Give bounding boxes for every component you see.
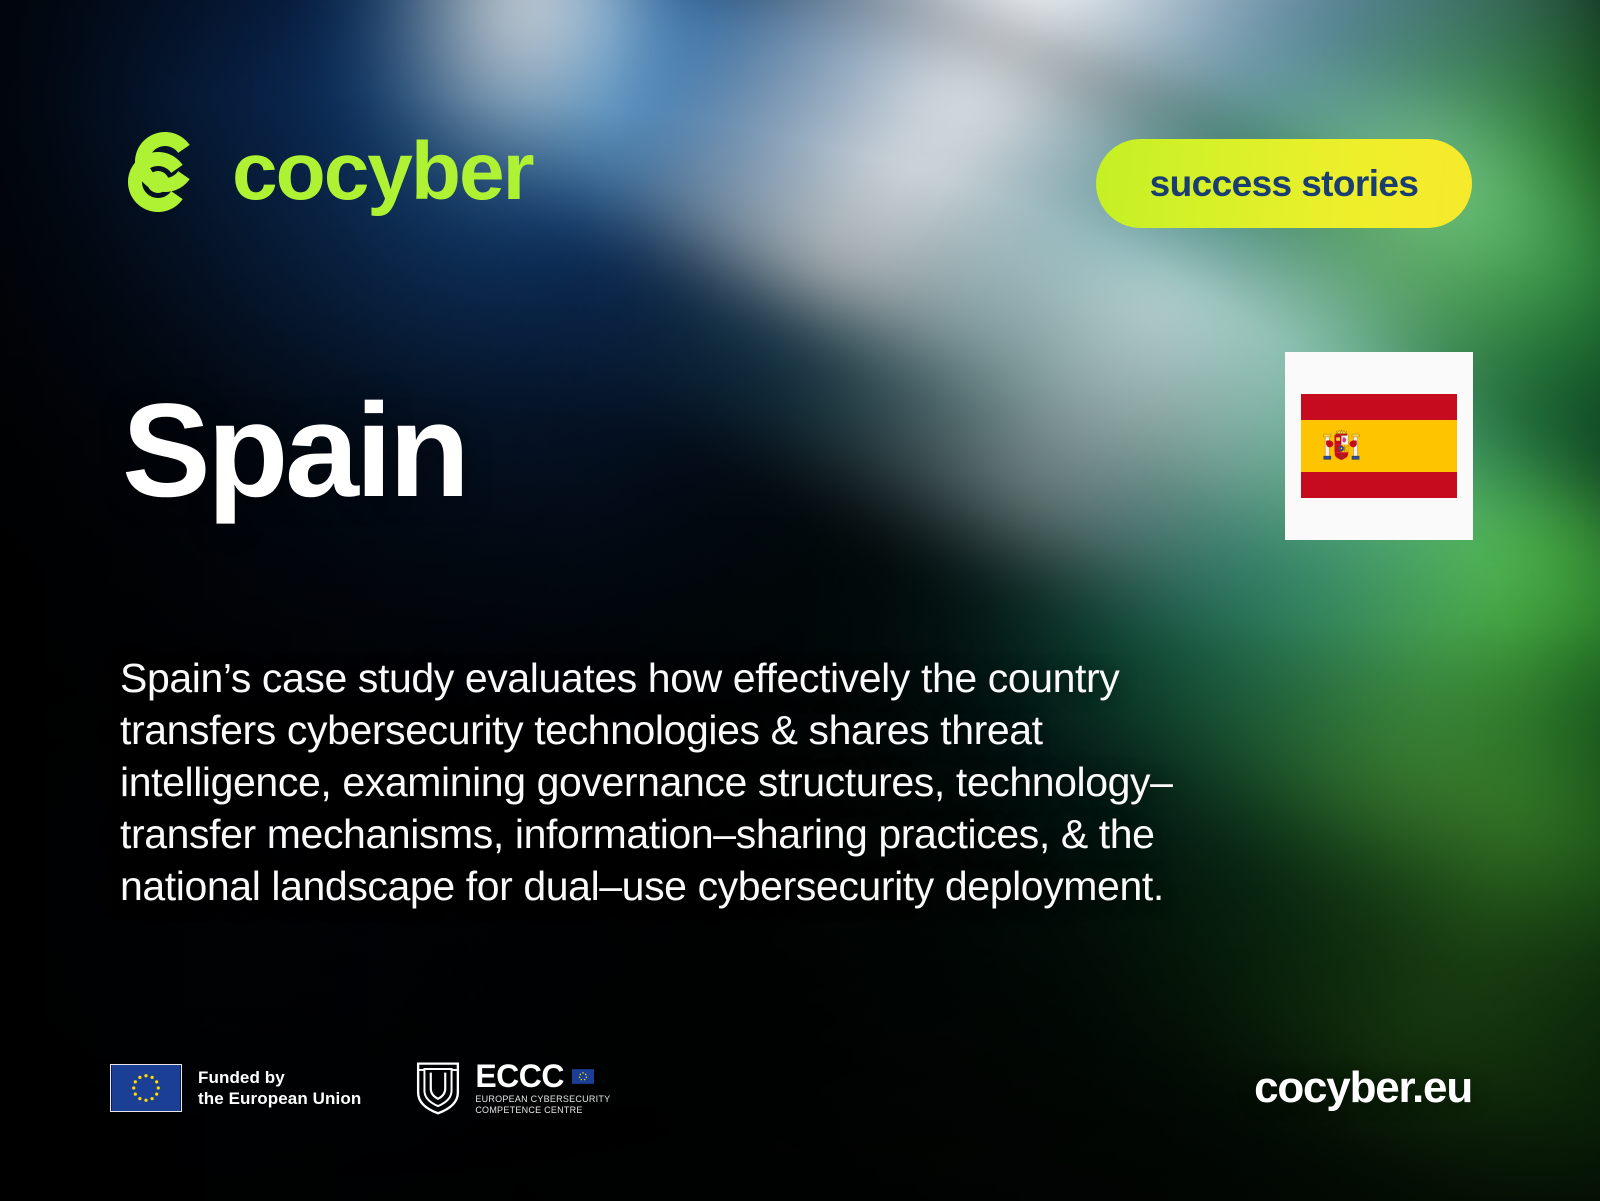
eccc-subtitle: EUROPEAN CYBERSECURITY COMPETENCE CENTRE [475,1094,610,1116]
eccc-text-block: ECCC [475,1060,610,1116]
spain-flag-icon [1301,387,1457,505]
eu-flag-icon [110,1064,182,1112]
eccc-acronym-row: ECCC [475,1060,610,1092]
site-url[interactable]: cocyber.eu [1254,1063,1472,1113]
footer-logos: Funded by the European Union ECCC [110,1060,610,1116]
success-story-poster: cocyber success stories [0,0,1600,1201]
eu-funding-logo: Funded by the European Union [110,1064,361,1112]
eccc-acronym: ECCC [475,1060,564,1092]
brand-wordmark: cocyber [232,131,533,213]
case-study-description: Spain’s case study evaluates how effecti… [120,652,1250,912]
badge-label: success stories [1150,163,1419,205]
eccc-logo: ECCC [413,1060,610,1116]
poster-content: cocyber success stories [0,0,1600,1201]
country-flag-frame [1285,352,1473,540]
page-title: Spain [122,382,467,522]
eu-funding-label: Funded by the European Union [198,1067,361,1109]
eccc-shield-icon [413,1060,463,1116]
cocyber-rings-icon [122,126,208,218]
brand-logo[interactable]: cocyber [122,126,533,218]
success-stories-badge[interactable]: success stories [1096,139,1472,228]
eu-flag-small-icon [572,1069,594,1084]
